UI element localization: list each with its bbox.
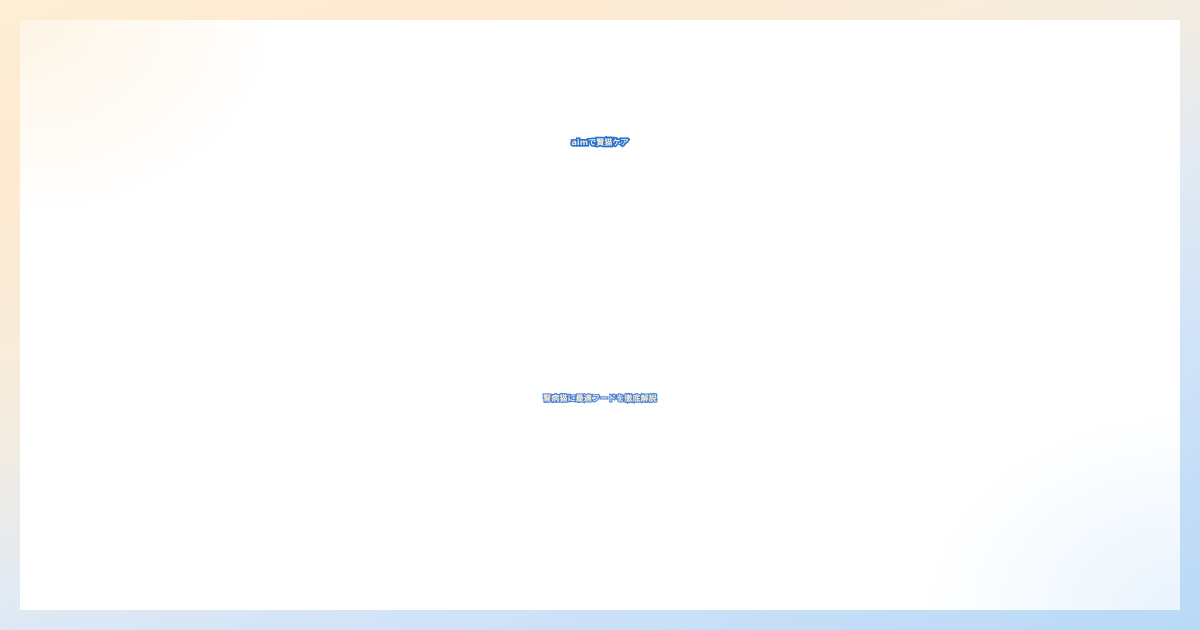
- page-subtitle: 腎病猫に最適フードを徹底解説: [20, 394, 1180, 404]
- title-block: aimで賢猫ケア: [20, 138, 1180, 147]
- eyecatch-card: aimで賢猫ケア 腎病猫に最適フードを徹底解説: [0, 0, 1200, 630]
- page-title: aimで賢猫ケア: [20, 138, 1180, 147]
- subtitle-block: 腎病猫に最適フードを徹底解説: [20, 394, 1180, 404]
- panel-corner-tint-bottom-right: [920, 410, 1180, 610]
- inner-white-panel: aimで賢猫ケア 腎病猫に最適フードを徹底解説: [20, 20, 1180, 610]
- panel-corner-tint-top-left: [20, 20, 280, 220]
